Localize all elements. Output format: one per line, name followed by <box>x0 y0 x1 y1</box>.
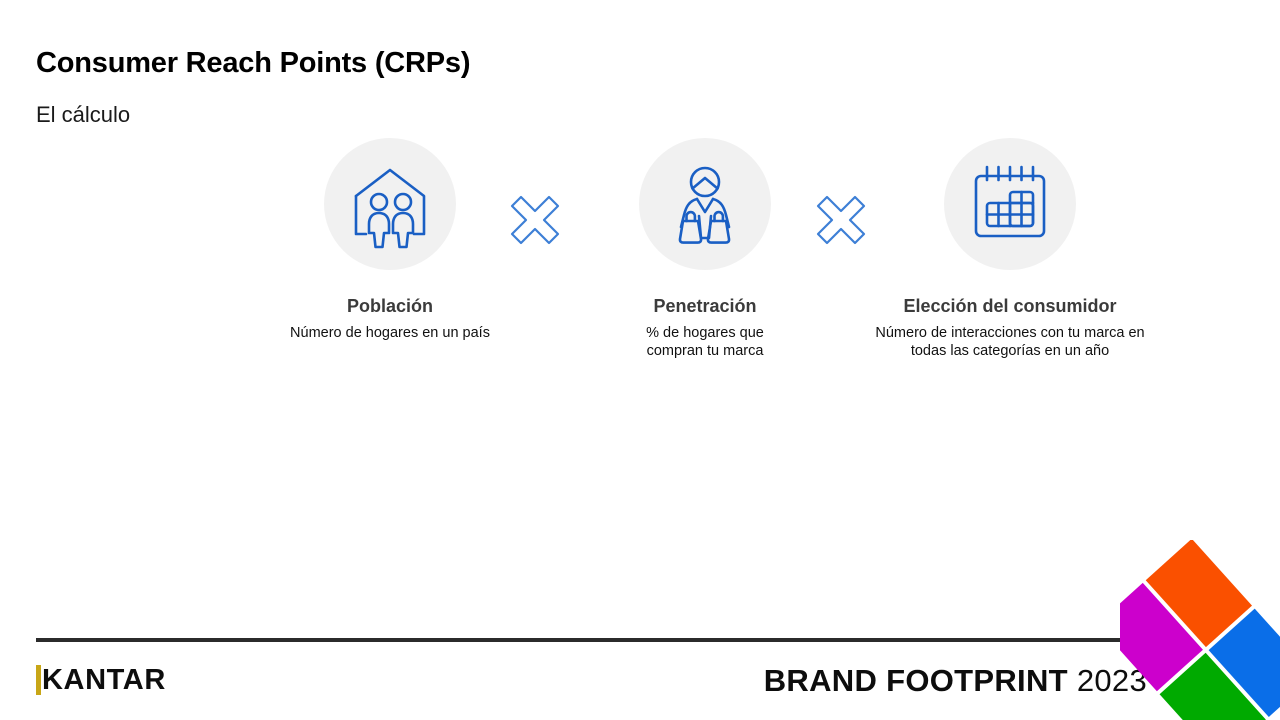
kantar-wordmark: KANTAR <box>42 665 166 695</box>
page-title: Consumer Reach Points (CRPs) <box>36 48 470 80</box>
shopper-with-bags-icon <box>659 158 751 250</box>
factor-label: Penetración <box>565 296 845 318</box>
factor-description: % de hogares que compran tu marca <box>622 324 788 360</box>
footer-divider <box>36 638 1145 642</box>
brand-footprint-wordmark: BRAND FOOTPRINT 2023 <box>764 663 1147 699</box>
corner-tile-orange <box>1146 540 1252 647</box>
report-year: 2023 <box>1068 663 1147 698</box>
factor-label: Población <box>250 296 530 318</box>
page-subtitle: El cálculo <box>36 103 130 127</box>
kantar-accent-bar <box>36 665 41 695</box>
factor-poblacion: Población Número de hogares en un país <box>250 138 530 342</box>
calendar-grid-icon <box>964 158 1056 250</box>
factor-icon-circle <box>639 138 771 270</box>
report-name: BRAND FOOTPRINT <box>764 663 1068 698</box>
operator-multiply-2 <box>805 184 877 256</box>
factor-description: Número de interacciones con tu marca en … <box>865 324 1155 360</box>
kantar-logo: KANTAR <box>36 665 166 695</box>
factor-description: Número de hogares en un país <box>274 324 506 342</box>
factor-penetracion: Penetración % de hogares que compran tu … <box>565 138 845 360</box>
factor-label: Elección del consumidor <box>870 296 1150 318</box>
multiply-cross-icon <box>499 243 571 260</box>
operator-multiply-1 <box>499 184 571 256</box>
factor-eleccion-del-consumidor: Elección del consumidor Número de intera… <box>870 138 1150 360</box>
factor-icon-circle <box>944 138 1076 270</box>
corner-tile-blue <box>1209 609 1280 717</box>
corner-tile-green <box>1160 653 1266 720</box>
multiply-cross-icon <box>805 243 877 260</box>
factor-icon-circle <box>324 138 456 270</box>
house-with-people-icon <box>344 158 436 250</box>
crp-formula: Población Número de hogares en un país <box>250 138 1170 438</box>
